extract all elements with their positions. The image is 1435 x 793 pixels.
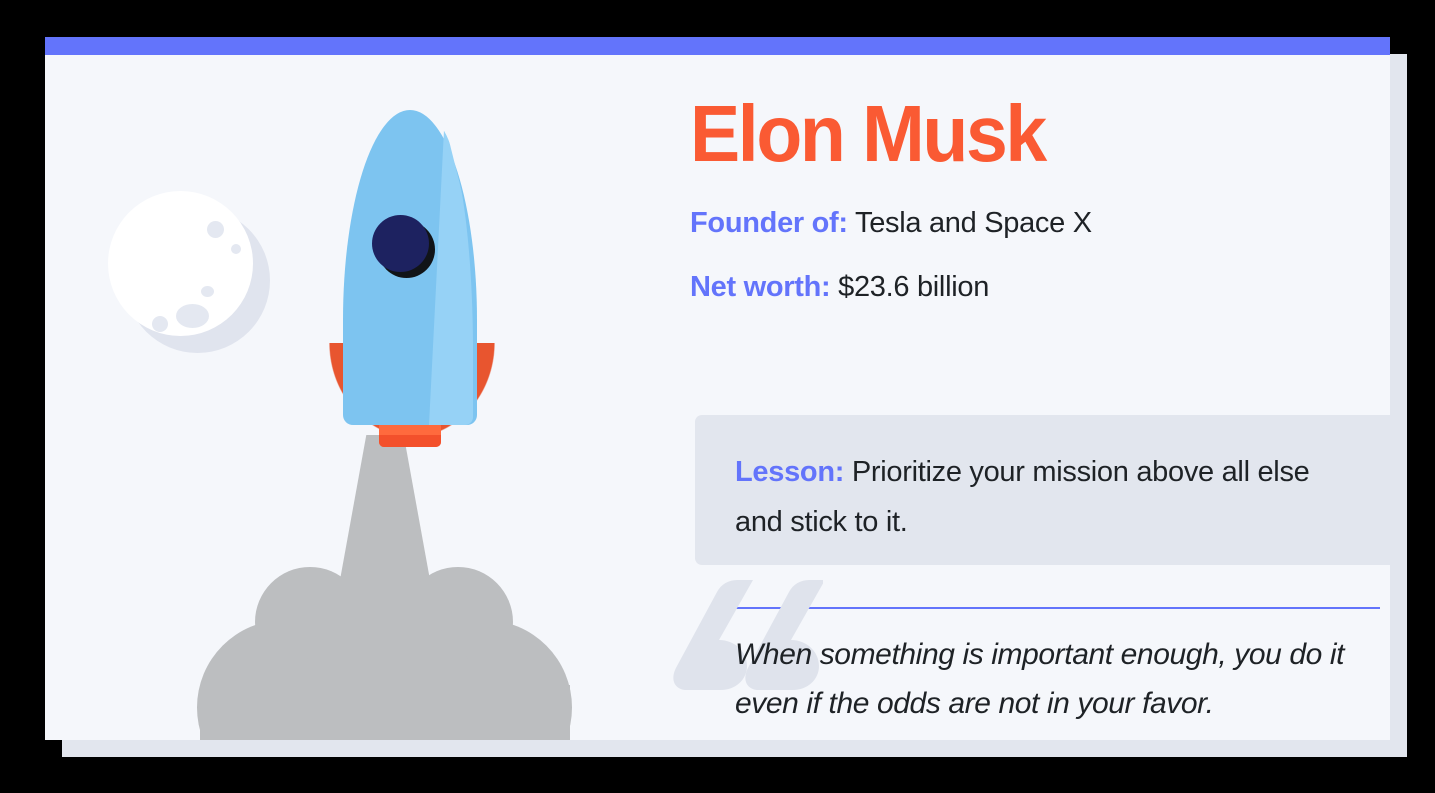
moon-crater — [231, 244, 241, 254]
profile-content: Elon Musk Founder of: Tesla and Space X … — [690, 92, 1380, 304]
profile-card: Elon Musk Founder of: Tesla and Space X … — [45, 37, 1390, 740]
page-title: Elon Musk — [690, 92, 1339, 176]
smoke-cloud-icon — [175, 435, 595, 740]
moon-body — [108, 191, 253, 336]
rocket-launch-illustration — [45, 55, 645, 740]
quote-divider — [735, 607, 1380, 609]
infographic-canvas: Elon Musk Founder of: Tesla and Space X … — [0, 0, 1435, 793]
moon-crater — [152, 316, 168, 332]
fact-value: Tesla and Space X — [848, 207, 1092, 239]
moon-crater — [201, 286, 214, 297]
rocket-icon — [295, 100, 525, 470]
fact-label: Net worth: — [690, 271, 830, 303]
moon-icon — [100, 183, 300, 383]
quote-block: When something is important enough, you … — [695, 582, 1390, 740]
quote-text: When something is important enough, you … — [735, 630, 1385, 728]
card-accent-topbar — [45, 37, 1390, 55]
rocket-nozzle-shade — [379, 435, 441, 447]
smoke-base — [200, 685, 570, 740]
lesson-text: Lesson: Prioritize your mission above al… — [735, 447, 1362, 547]
fact-value: $23.6 billion — [830, 271, 989, 303]
lesson-label: Lesson: — [735, 456, 844, 488]
moon-crater — [176, 304, 209, 328]
rocket-porthole — [372, 215, 429, 272]
moon-crater — [207, 221, 224, 238]
lesson-callout: Lesson: Prioritize your mission above al… — [695, 415, 1390, 565]
fact-founder-of: Founder of: Tesla and Space X — [690, 206, 1380, 240]
fact-label: Founder of: — [690, 207, 848, 239]
fact-net-worth: Net worth: $23.6 billion — [690, 270, 1380, 304]
